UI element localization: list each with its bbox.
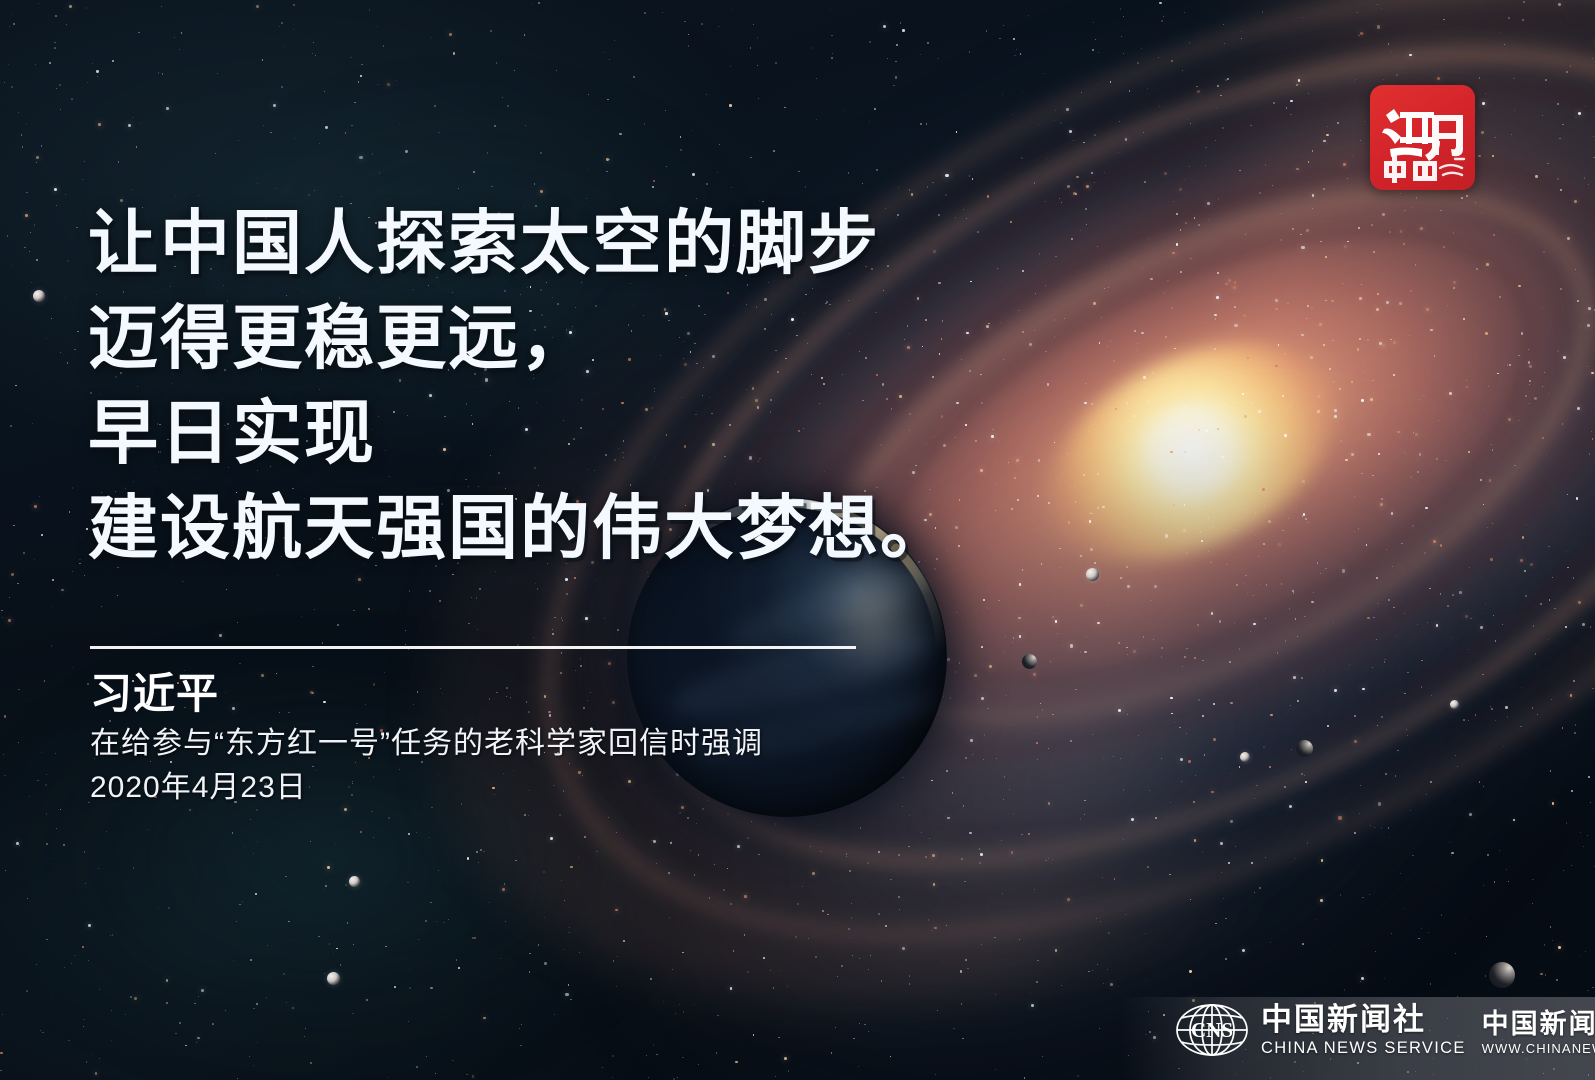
moon-small-9 — [1450, 700, 1459, 709]
moon-small-7 — [1489, 962, 1515, 988]
agency-name-cn: 中国新闻社 — [1261, 1002, 1466, 1038]
headline-line-3: 早日实现 — [88, 386, 928, 481]
jinguan-zhongguo-badge[interactable] — [1370, 85, 1475, 190]
headline-line-2: 迈得更稳更远， — [88, 291, 928, 386]
speaker-name: 习近平 — [90, 666, 990, 722]
headline-line-4: 建设航天强国的伟大梦想。 — [88, 481, 928, 576]
site-name-cn: 中国新闻网 — [1482, 1008, 1595, 1040]
headline-block: 让中国人探索太空的脚步 迈得更稳更远， 早日实现 建设航天强国的伟大梦想。 — [88, 196, 928, 576]
moon-small-6 — [349, 876, 360, 887]
moon-small-8 — [33, 290, 45, 302]
speech-context: 在给参与“东方红一号”任务的老科学家回信时强调 — [90, 722, 990, 766]
moon-small-5 — [327, 972, 340, 985]
headline-line-1: 让中国人探索太空的脚步 — [88, 196, 928, 291]
headline-divider — [90, 646, 856, 649]
agency-block: 中国新闻社 CHINA NEWS SERVICE — [1261, 1002, 1466, 1058]
moon-small-4 — [1240, 752, 1250, 762]
poster-canvas: 让中国人探索太空的脚步 迈得更稳更远， 早日实现 建设航天强国的伟大梦想。 习近… — [0, 0, 1595, 1080]
cns-logo-text: CNS — [1191, 1018, 1233, 1042]
cns-globe-icon: CNS — [1175, 1002, 1249, 1058]
moon-small-3 — [1296, 740, 1313, 757]
site-block[interactable]: 中国新闻网 WWW.CHINANEWS.COM — [1482, 1008, 1595, 1058]
moon-small-2 — [1022, 654, 1037, 669]
speech-date: 2020年4月23日 — [90, 766, 990, 810]
site-url-en: WWW.CHINANEWS.COM — [1482, 1040, 1595, 1058]
moon-small-1 — [1086, 568, 1099, 581]
agency-name-en: CHINA NEWS SERVICE — [1261, 1038, 1466, 1058]
footer-branding: CNS 中国新闻社 CHINA NEWS SERVICE 中国新闻网 WWW.C… — [1175, 993, 1595, 1067]
attribution-block: 习近平 在给参与“东方红一号”任务的老科学家回信时强调 2020年4月23日 — [90, 666, 990, 810]
badge-logo-icon — [1370, 85, 1475, 190]
